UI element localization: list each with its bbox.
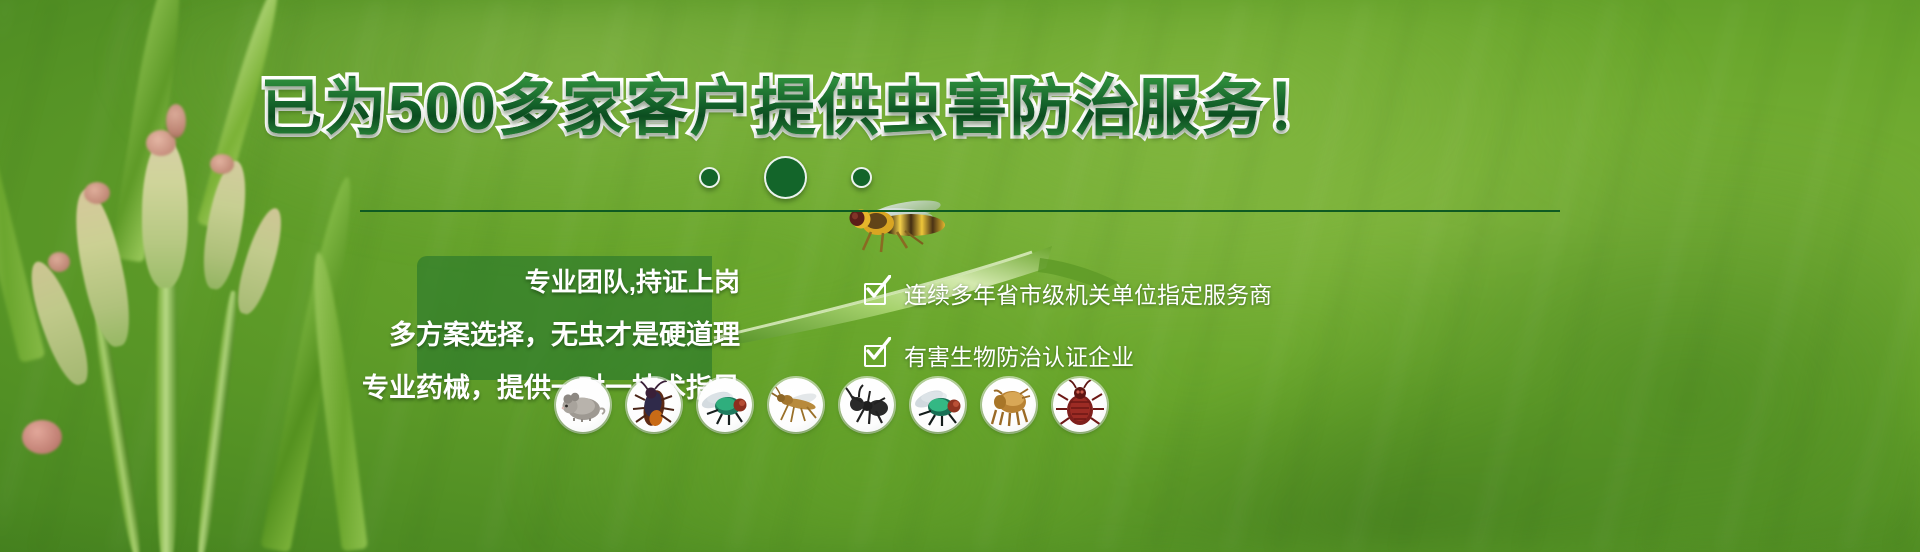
feature-checklist: 连续多年省市级机关单位指定服务商 有害生物防治认证企业 bbox=[864, 276, 1272, 372]
copy-line-2: 多方案选择，无虫才是硬道理 bbox=[389, 313, 740, 352]
checklist-item: 连续多年省市级机关单位指定服务商 bbox=[864, 276, 1272, 310]
flea-icon bbox=[982, 378, 1036, 432]
pest-icon-row bbox=[556, 378, 1107, 432]
divider bbox=[360, 210, 1560, 212]
checkbox-check-icon bbox=[864, 342, 890, 368]
blowfly-icon bbox=[911, 378, 965, 432]
bedbug-icon bbox=[1053, 378, 1107, 432]
fly-icon bbox=[698, 378, 752, 432]
pest-icon-mouse[interactable] bbox=[556, 378, 610, 432]
dot-small-right-icon bbox=[851, 167, 872, 188]
pest-icon-flea[interactable] bbox=[982, 378, 1036, 432]
checkbox-check-icon bbox=[864, 280, 890, 306]
cockroach-icon bbox=[627, 378, 681, 432]
pest-icon-ant[interactable] bbox=[840, 378, 894, 432]
copy-line-1: 专业团队,持证上岗 bbox=[525, 262, 740, 299]
ant-icon bbox=[840, 378, 894, 432]
dot-large-center-icon bbox=[764, 156, 807, 199]
mouse-icon bbox=[556, 378, 610, 432]
mosquito-icon bbox=[769, 378, 823, 432]
promo-banner: 已为500多家客户提供虫害防治服务！ 已为500多家客户提供虫害防治服务！ 专业… bbox=[0, 0, 1920, 552]
pest-icon-blowfly[interactable] bbox=[911, 378, 965, 432]
checklist-item-label: 有害生物防治认证企业 bbox=[904, 338, 1134, 372]
dot-small-left-icon bbox=[699, 167, 720, 188]
decorative-dot-group bbox=[0, 156, 1920, 199]
checklist-item-label: 连续多年省市级机关单位指定服务商 bbox=[904, 276, 1272, 310]
hoverfly-photo bbox=[845, 198, 965, 260]
checklist-item: 有害生物防治认证企业 bbox=[864, 338, 1272, 372]
pest-icon-cockroach[interactable] bbox=[627, 378, 681, 432]
pest-icon-bedbug[interactable] bbox=[1053, 378, 1107, 432]
pest-icon-mosquito[interactable] bbox=[769, 378, 823, 432]
pest-icon-fly[interactable] bbox=[698, 378, 752, 432]
page-title: 已为500多家客户提供虫害防治服务！ bbox=[0, 78, 1920, 140]
